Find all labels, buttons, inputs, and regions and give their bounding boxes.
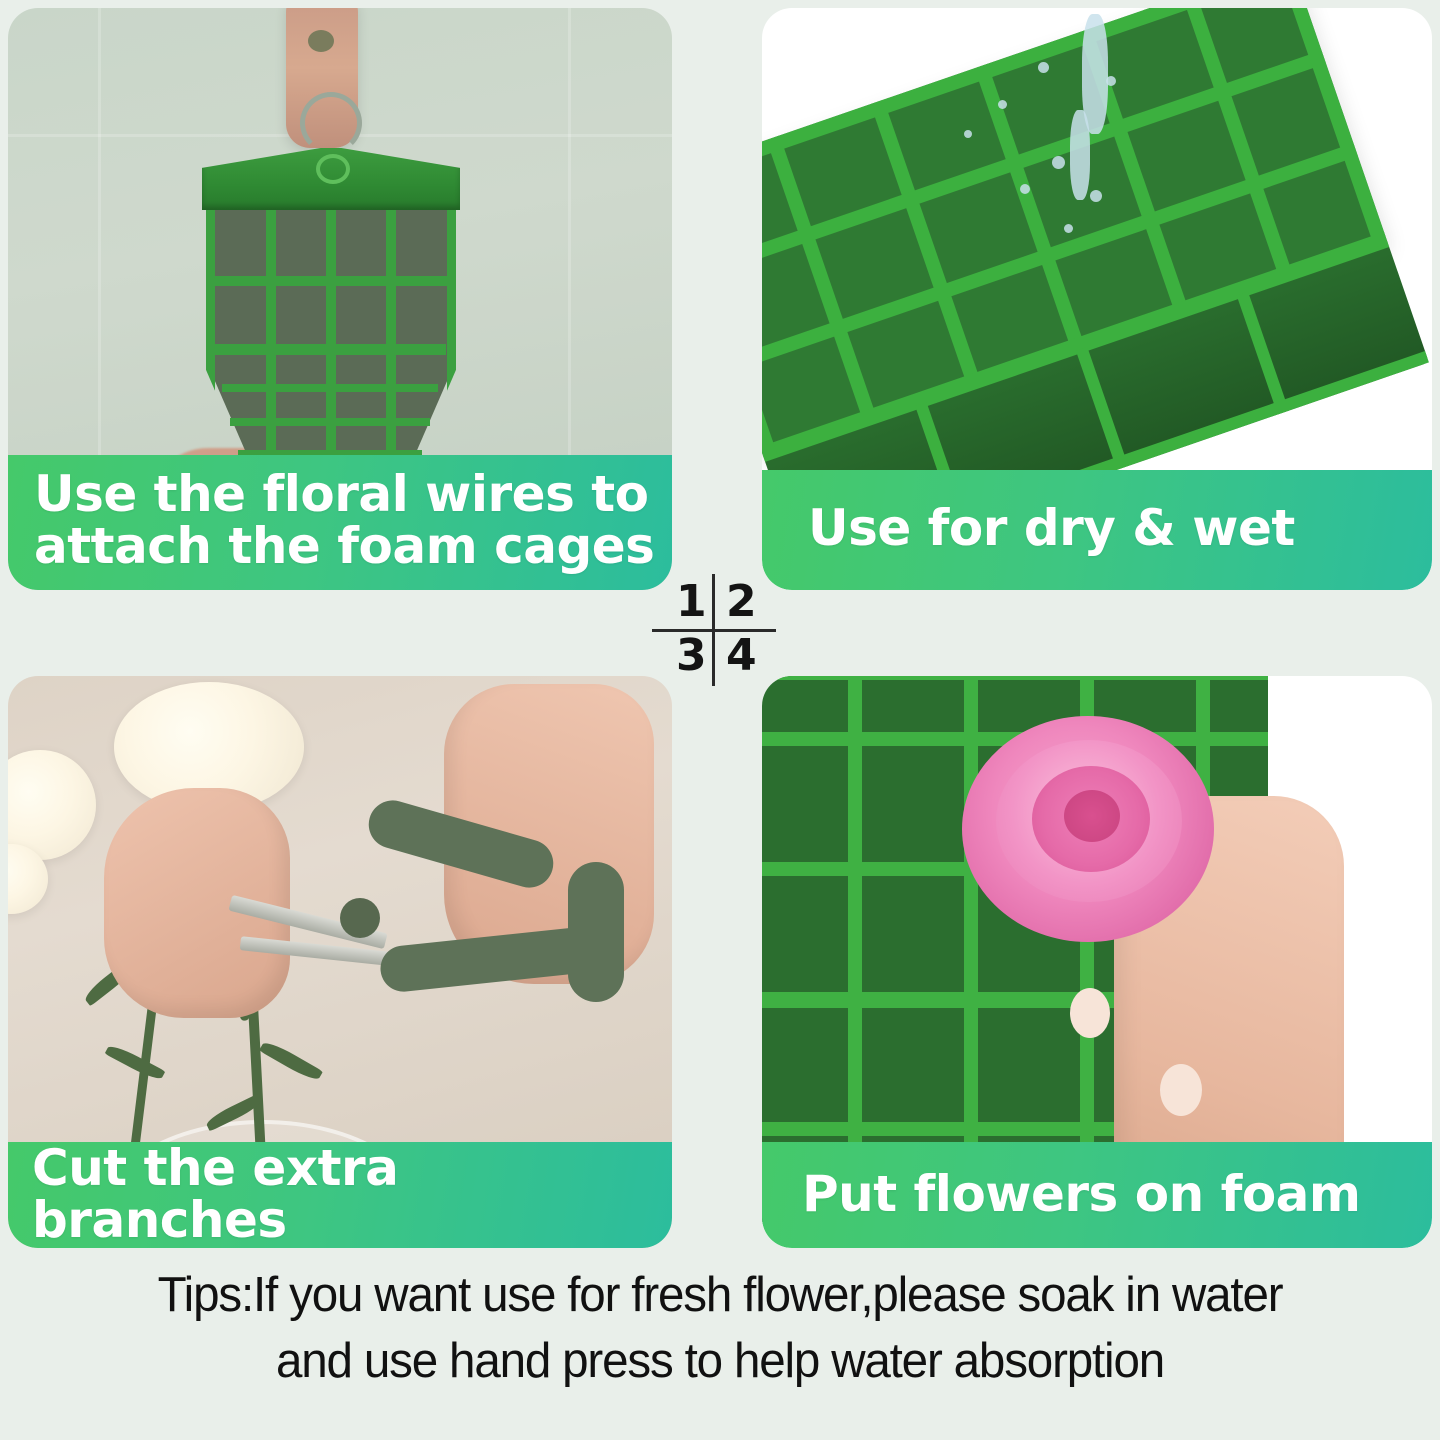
rose-core [1064,790,1120,842]
cage-hang-hole [316,154,350,184]
caption-banner-2: Use for dry & wet [762,470,1432,590]
water-drop [1038,62,1049,73]
quadrant-number-2: 2 [726,580,757,624]
tips-text: Tips:If you want use for fresh flower,pl… [22,1262,1419,1394]
water-drop [1064,224,1073,233]
quadrant-number-4: 4 [726,634,757,678]
wire-hook-icon [300,92,362,154]
panel-put-flowers-on-foam: Put flowers on foam [762,676,1432,1248]
caption-banner-3: Cut the extra branches [8,1142,672,1248]
water-stream [1030,14,1150,274]
water-drop [1020,184,1030,194]
fingernail-3 [1160,1064,1202,1116]
shear-pivot-screw [340,898,380,938]
pink-rose [962,706,1214,950]
quadrant-number-3: 3 [676,634,707,678]
foam-cage [194,148,468,480]
water-drop [964,130,972,138]
water-drop [1052,156,1065,169]
quadrant-step-marker: 1 2 3 4 [650,572,778,688]
forearm-mark [308,30,334,52]
caption-text-1: Use the floral wires to attach the foam … [34,468,658,572]
caption-banner-1: Use the floral wires to attach the foam … [8,455,672,590]
quadrant-horizontal-divider [652,629,776,632]
tray-bar-v1 [848,676,862,1222]
fingernail-2 [1070,988,1110,1038]
shear-grip-loop [568,862,624,1002]
caption-text-2: Use for dry & wet [808,502,1418,554]
infographic-page: Use the floral wires to attach the foam … [0,0,1440,1440]
quadrant-number-1: 1 [676,580,707,624]
panel-cut-extra-branches: Cut the extra branches [8,676,672,1248]
water-drop [998,100,1007,109]
caption-text-4: Put flowers on foam [802,1168,1418,1220]
cage-outer-frame [206,200,456,474]
caption-text-3: Cut the extra branches [32,1142,658,1246]
tray-bar-top-edge [762,676,1268,680]
water-drop [1070,110,1090,200]
panel-use-floral-wires: Use the floral wires to attach the foam … [8,8,672,590]
caption-banner-4: Put flowers on foam [762,1142,1432,1248]
panel-use-dry-and-wet: Use for dry & wet [762,8,1432,590]
water-drop [1090,190,1102,202]
water-drop [1106,76,1116,86]
tips-line-1: Tips:If you want use for fresh flower,pl… [22,1262,1419,1328]
tips-line-2: and use hand press to help water absorpt… [22,1328,1419,1394]
